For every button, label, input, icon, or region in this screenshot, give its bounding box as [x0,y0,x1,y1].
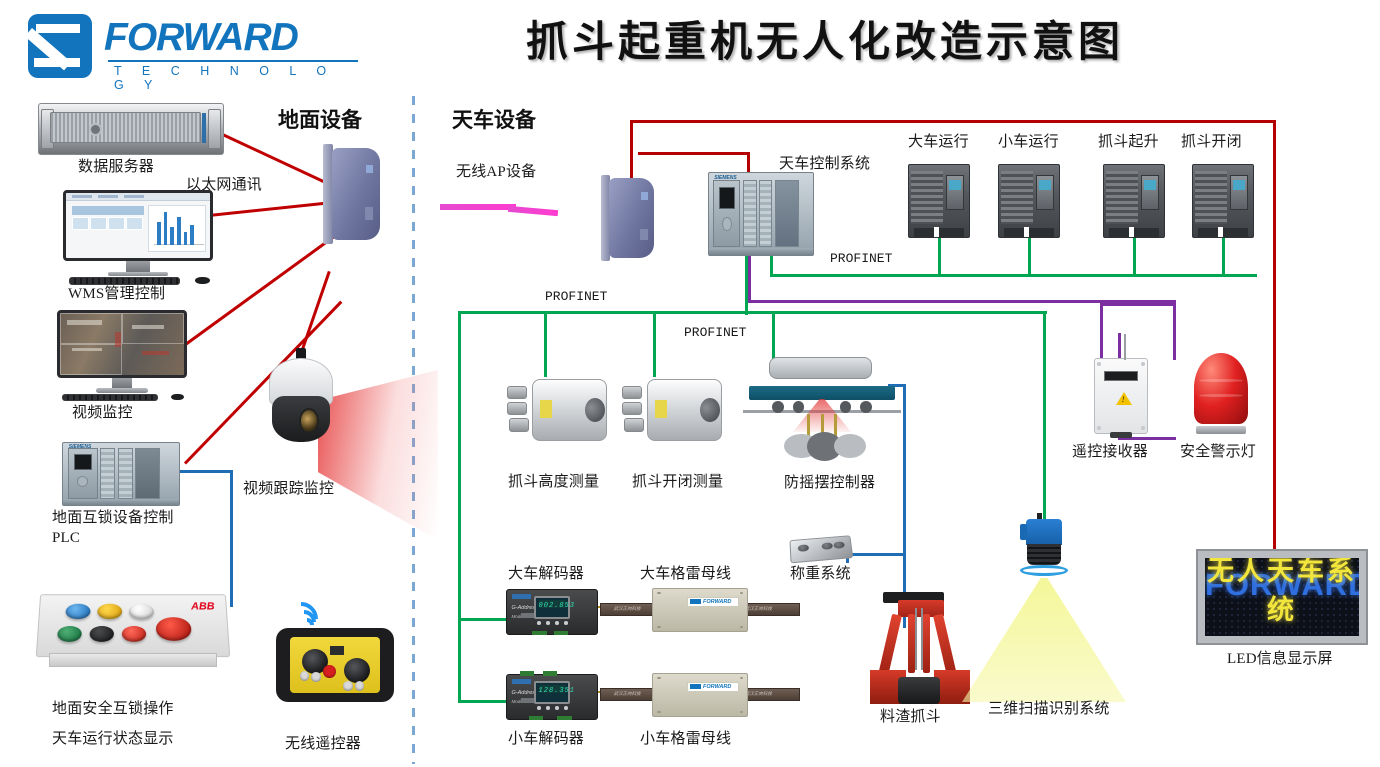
link-red-ap-to-plc-h [638,152,750,155]
drive-grab-open-close[interactable] [1192,164,1254,238]
label-anti-sway-controller: 防摇摆控制器 [784,474,875,493]
scanner-beam [962,578,1126,702]
label-ground-interlock-plc: 地面互锁设备控制 [52,509,174,528]
ground-wireless-ap[interactable] [318,148,380,240]
link-purple-receiver-h [1100,303,1176,306]
anti-sway-controller[interactable] [749,355,895,465]
label-drive-grab-open-close: 抓斗开闭 [1181,133,1242,152]
panel-brand-label: ABB [191,601,215,612]
link-green-drives-bus [770,274,1257,277]
link-green-encoder2 [653,311,656,377]
label-wms-workstation: WMS管理控制 [68,285,165,304]
grey-bus-strip-text: 武汉正向科技 [614,691,641,697]
label-safety-interlock-panel: 地面安全互锁操作 [52,700,174,719]
label-3d-scan-system: 三维扫描识别系统 [988,700,1110,719]
label-drive-grab-hoist: 抓斗起升 [1098,133,1159,152]
section-heading-crane: 天车设备 [452,104,536,134]
label-drive-long-travel: 大车运行 [908,133,969,152]
section-heading-ground: 地面设备 [278,104,362,134]
page-title: 抓斗起重机无人化改造示意图 [430,8,1220,69]
drive-grab-hoist[interactable] [1103,164,1165,238]
link-green-to-decoder1 [458,618,508,621]
grab-open-close-encoder[interactable] [620,376,722,444]
long-travel-grey-bus[interactable]: 武汉正向科技 武汉正向科技 FORWARD [600,588,800,632]
label-cross-travel-grey-bus: 小车格雷母线 [640,730,731,749]
label-video-monitor: 视频监控 [72,404,133,423]
ptz-tracking-camera[interactable] [263,348,339,448]
link-green-plc-mid [745,255,748,315]
long-travel-decoder[interactable]: G-Address Decoder Model: 002.853 [506,589,598,635]
link-green-drive2 [1028,236,1031,276]
crane-control-system[interactable]: SIEMENS [708,172,814,256]
led-line-2: 无人天车系统 [1205,558,1359,627]
label-long-travel-decoder: 大车解码器 [508,565,584,584]
link-green-encoder1 [544,311,547,377]
cross-travel-grey-bus[interactable]: 武汉正向科技 武汉正向科技 FORWARD [600,673,800,717]
link-green-drive4 [1222,236,1225,276]
link-red-top-run [630,120,1276,123]
crane-wireless-ap[interactable] [596,178,654,258]
logo-wordmark: FORWARD [104,16,298,60]
safety-interlock-panel[interactable]: ABB [38,588,228,674]
link-green-drive1 [938,236,941,276]
label-drive-cross-travel: 小车运行 [998,133,1059,152]
ground-interlock-plc[interactable]: SIEMENS [62,442,180,506]
ap-pointer-1 [440,204,516,210]
label-remote-receiver: 遥控接收器 [1072,443,1148,462]
ap-pointer-2 [508,206,558,216]
link-blue-trunk [903,384,906,556]
safety-warning-light[interactable] [1190,350,1252,434]
decoder-readout: 002.853 [539,600,566,608]
link-green-drop-left [458,311,461,621]
wms-workstation[interactable] [63,190,213,286]
link-green-scanner-v [1043,311,1046,521]
label-material-grab-bucket: 料渣抓斗 [880,708,941,727]
label-cross-travel-decoder: 小车解码器 [508,730,584,749]
weighing-system[interactable] [789,535,853,563]
label-weighing-system: 称重系统 [790,565,851,584]
link-purple-to-beacon-v [1173,300,1176,360]
link-green-drop-left2 [458,618,461,703]
video-monitor[interactable] [57,310,187,402]
cross-travel-decoder[interactable]: G-Address Decoder Model: 128.351 [506,674,598,720]
grab-height-encoder[interactable] [505,376,607,444]
3d-scan-system[interactable] [1018,519,1070,581]
label-wireless-remote: 无线遥控器 [285,735,361,754]
drive-cross-travel[interactable] [998,164,1060,238]
label-profinet-mid: PROFINET [684,325,746,341]
label-crane-status-display: 天车运行状态显示 [52,730,174,749]
label-data-server: 数据服务器 [78,158,154,177]
label-led-info-display: LED信息显示屏 [1227,650,1333,669]
wireless-remote[interactable] [276,628,394,702]
label-grab-height-encoder: 抓斗高度测量 [508,473,599,492]
grey-bus-strip-text: 武汉正向科技 [745,691,772,697]
label-ptz-tracking-camera: 视频跟踪监控 [243,480,334,499]
grey-bus-strip-text: 武汉正向科技 [745,606,772,612]
link-purple-plc-down [748,255,751,303]
link-green-drive3 [1133,236,1136,276]
grey-bus-brand: FORWARD [703,599,731,605]
label-wireless-ap: 无线AP设备 [456,163,536,182]
data-server[interactable] [38,103,224,155]
link-purple-receiver [1100,303,1103,361]
link-plc-panel-h [180,470,233,473]
led-info-display[interactable]: FORWARD 无人天车系统 [1196,549,1368,645]
label-safety-warning-light: 安全警示灯 [1180,443,1256,462]
link-red-down-to-led [1273,120,1276,550]
link-blue-loadcell [848,553,906,556]
label-ground-interlock-plc-2: PLC [52,529,80,548]
link-plc-panel-v [230,470,233,607]
label-crane-control-system: 天车控制系统 [779,155,870,174]
diagram-canvas: FORWARD T E C H N O L O G Y 抓斗起重机无人化改造示意… [0,0,1380,767]
decoder-readout: 128.351 [539,685,566,693]
remote-receiver[interactable] [1094,358,1148,434]
grey-bus-strip-text: 武汉正向科技 [614,606,641,612]
link-green-to-decoder2 [458,700,508,703]
label-long-travel-grey-bus: 大车格雷母线 [640,565,731,584]
drive-long-travel[interactable] [908,164,970,238]
label-grab-open-close-encoder: 抓斗开闭测量 [632,473,723,492]
forward-technology-logo: FORWARD T E C H N O L O G Y [28,10,358,86]
label-profinet-drives: PROFINET [830,251,892,267]
material-grab-bucket[interactable] [866,592,972,704]
logo-tagline: T E C H N O L O G Y [114,64,358,92]
logo-rule [108,60,358,62]
grey-bus-brand: FORWARD [703,684,731,690]
logo-z-mark [28,14,92,78]
label-profinet-bus: PROFINET [545,289,607,305]
